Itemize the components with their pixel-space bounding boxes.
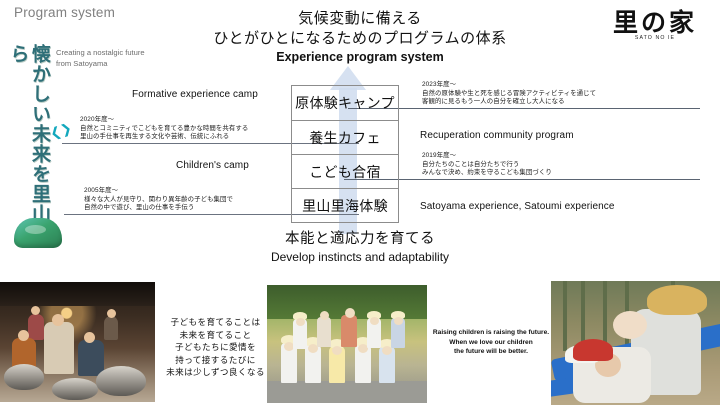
slide-canvas: Program system 里の家 SATO NO IE 気候変動に備える ひ… bbox=[0, 0, 720, 405]
note-2019-line2: みんなで決め、約束を守るこども集団づくり bbox=[422, 169, 698, 178]
note-2005-line2: 自然の中で遊び、里山の仕事を手伝う bbox=[84, 204, 354, 213]
note-2020-year: 2020年度〜 bbox=[80, 116, 354, 125]
caption-jp-line5: 未来は少しずつ良くなる bbox=[163, 366, 268, 379]
fish-icon: ❮❯ bbox=[48, 120, 74, 142]
program-box-kodomo-gasshuku[interactable]: こども合宿 bbox=[292, 154, 398, 188]
headline-jp-line2: ひとがひとになるためのプログラムの体系 bbox=[180, 28, 540, 49]
caption-japanese: 子どもを育てることは 未来を育てること 子どもたちに愛情を 持って接するたびに … bbox=[163, 316, 268, 379]
caption-jp-line2: 未来を育てること bbox=[163, 329, 268, 342]
satoyama-calligraphy: 懐かしい未来を里山から bbox=[16, 44, 50, 244]
caption-en-line1: Raising children is raising the future. bbox=[432, 328, 550, 338]
brand-tagline: Creating a nostalgic future from Satoyam… bbox=[56, 48, 206, 69]
headline-block: 気候変動に備える ひとがひとになるためのプログラムの体系 Experience … bbox=[180, 9, 540, 66]
footer-jp: 本能と適応力を育てる bbox=[180, 229, 540, 249]
footer-message: 本能と適応力を育てる Develop instincts and adaptab… bbox=[180, 229, 540, 266]
caption-en-line3: the future will be better. bbox=[432, 347, 550, 357]
label-formative-experience-camp: Formative experience camp bbox=[132, 89, 258, 100]
headline-en: Experience program system bbox=[180, 49, 540, 66]
program-box-genbaiken-camp[interactable]: 原体験キャンプ bbox=[292, 86, 398, 120]
note-2005-line1: 様々な大人が見守り、関わり異年齢の子ども集団で bbox=[84, 196, 354, 205]
note-2023-line1: 自然の原体験や生と死を感じる冒険アクティビティを通じて bbox=[422, 90, 698, 99]
note-2020-line2: 里山の手仕事を再生する文化や芸術、伝統にふれる bbox=[80, 133, 354, 142]
caption-jp-line1: 子どもを育てることは bbox=[163, 316, 268, 329]
note-2019-line1: 自分たちのことは自分たちで行う bbox=[422, 161, 698, 170]
hill-illustration bbox=[14, 218, 62, 248]
photo-children-forest-slide bbox=[551, 281, 720, 405]
caption-english: Raising children is raising the future. … bbox=[432, 328, 550, 357]
page-title: Program system bbox=[14, 5, 115, 20]
note-2023-line2: 客観的に見るもう一人の自分を確立し大人になる bbox=[422, 98, 698, 107]
brand-tagline-line2: from Satoyama bbox=[56, 59, 206, 70]
label-childrens-camp: Children's camp bbox=[176, 160, 249, 171]
note-2005-year: 2005年度〜 bbox=[84, 187, 354, 196]
headline-jp-line1: 気候変動に備える bbox=[180, 9, 540, 28]
caption-en-line2: When we love our children bbox=[432, 338, 550, 348]
divider-rule-top bbox=[348, 108, 700, 109]
caption-jp-line3: 子どもたちに愛情を bbox=[163, 341, 268, 354]
note-2023-year: 2023年度〜 bbox=[422, 81, 698, 90]
note-2019: 2019年度〜 自分たちのことは自分たちで行う みんなで決め、約束を守るこども集… bbox=[422, 152, 698, 178]
label-recuperation-community-program: Recuperation community program bbox=[420, 130, 574, 141]
brand-tagline-line1: Creating a nostalgic future bbox=[56, 48, 206, 59]
caption-jp-line4: 持って接するたびに bbox=[163, 354, 268, 367]
footer-en: Develop instincts and adaptability bbox=[180, 249, 540, 266]
sato-no-ie-logo: 里の家 SATO NO IE bbox=[601, 8, 709, 56]
note-2020: 2020年度〜 自然とコミニティでこどもを育てる豊かな時間を共有する 里山の手仕… bbox=[80, 116, 354, 142]
label-satoyama-satoumi-experience: Satoyama experience, Satoumi experience bbox=[420, 201, 615, 212]
note-2005: 2005年度〜 様々な大人が見守り、関わり異年齢の子ども集団で 自然の中で遊び、… bbox=[84, 187, 354, 213]
logo-brush-text: 里の家 bbox=[601, 8, 709, 38]
photo-cooking-workshop bbox=[0, 282, 155, 402]
note-2019-year: 2019年度〜 bbox=[422, 152, 698, 161]
note-2023: 2023年度〜 自然の原体験や生と死を感じる冒険アクティビティを通じて 客観的に… bbox=[422, 81, 698, 107]
photo-rice-harvest-children bbox=[267, 285, 427, 403]
note-2020-line1: 自然とコミニティでこどもを育てる豊かな時間を共有する bbox=[80, 125, 354, 134]
